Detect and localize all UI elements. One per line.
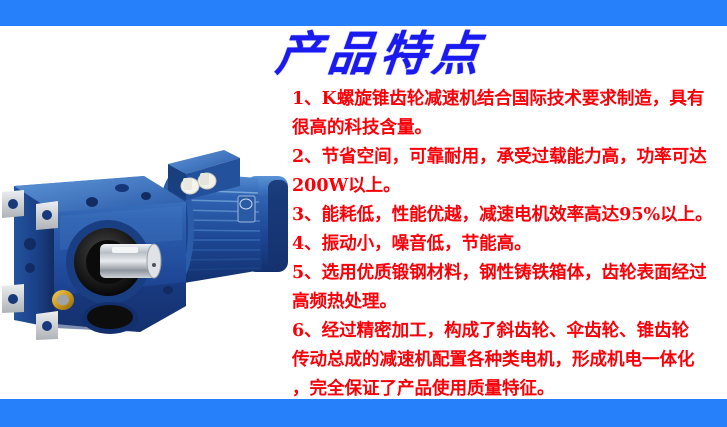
feature-line: 6、经过精密加工，构成了斜齿轮、伞齿轮、锥齿轮 — [292, 317, 724, 346]
oil-plug — [52, 290, 74, 310]
feature-line: 4、振动小，噪音低，节能高。 — [292, 230, 724, 259]
lifting-eye-hole — [115, 184, 129, 192]
output-shaft — [100, 244, 161, 278]
motor-nameplate — [238, 196, 255, 222]
feature-line: 高频热处理。 — [292, 288, 724, 317]
bottom-accent-bar — [0, 399, 727, 427]
product-photo-gear-reducer — [0, 120, 290, 352]
flange-bottom-left — [2, 284, 24, 313]
product-feature-banner: 产品特点 1、K螺旋锥齿轮减速机结合国际技术要求制造，具有 很高的科技含量。 2… — [0, 0, 727, 427]
feature-line: 2、节省空间，可靠耐用，承受过载能力高，功率可达 — [292, 143, 724, 172]
feature-text-panel: 产品特点 1、K螺旋锥齿轮减速机结合国际技术要求制造，具有 很高的科技含量。 2… — [270, 28, 727, 396]
top-accent-bar — [0, 0, 727, 26]
feature-line: 5、选用优质锻钢材料，钢性铸铁箱体，齿轮表面经过 — [292, 259, 724, 288]
feature-line: 3、能耗低，性能优越，减速电机效率高达95%以上。 — [292, 201, 724, 230]
feature-list: 1、K螺旋锥齿轮减速机结合国际技术要求制造，具有 很高的科技含量。 2、节省空间… — [292, 85, 724, 404]
inspection-port — [82, 302, 138, 334]
feature-line: 很高的科技含量。 — [292, 114, 724, 143]
feature-line: 200W以上。 — [292, 172, 724, 201]
flange-top-left — [2, 190, 24, 218]
flange-top-mid — [36, 201, 58, 230]
feature-line: 传动总成的减速机配置各种类电机，形成机电一体化 — [292, 346, 724, 375]
feature-line: 1、K螺旋锥齿轮减速机结合国际技术要求制造，具有 — [292, 85, 724, 114]
flange-bottom-mid — [36, 311, 58, 340]
page-title: 产品特点 — [273, 28, 487, 82]
